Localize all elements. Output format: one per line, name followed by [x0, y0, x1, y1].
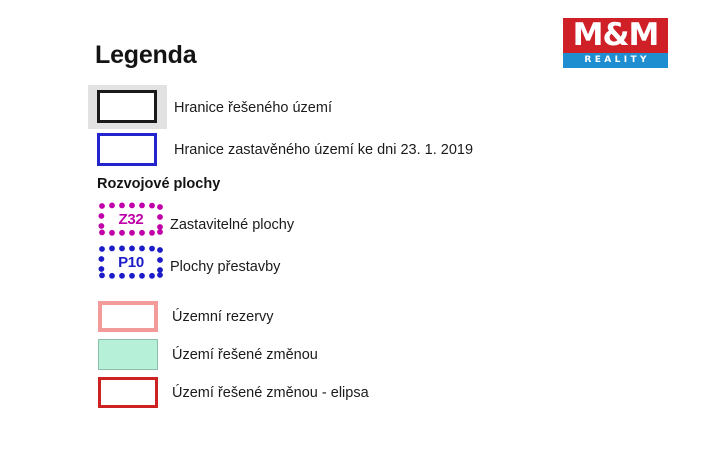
legend-page: { "logo": { "mark": "M&M", "tagline": "R… — [0, 0, 719, 468]
swatch-uzemi-resene-zmenou-elipsa — [98, 377, 158, 408]
swatch-code-p10: P10 — [98, 245, 164, 279]
swatch-hranice-zastaveneho-uzemi — [97, 133, 157, 166]
swatch-plochy-prestavby: P10 — [98, 245, 164, 279]
swatch-code-z32: Z32 — [98, 202, 164, 236]
page-title: Legenda — [95, 41, 196, 70]
logo-wordmark: M&M — [563, 18, 668, 53]
legend-label-hranice-reseneho-uzemi: Hranice řešeného území — [174, 100, 332, 116]
legend-label-zastavitelne-plochy: Zastavitelné plochy — [170, 217, 294, 233]
legend-label-uzemi-resene-zmenou: Území řešené změnou — [172, 347, 318, 363]
legend-label-uzemni-rezervy: Územní rezervy — [172, 309, 274, 325]
section-heading-rozvojove-plochy: Rozvojové plochy — [97, 176, 220, 192]
swatch-hranice-reseneho-uzemi — [97, 90, 157, 123]
logo-tagline: REALITY — [563, 53, 668, 68]
swatch-uzemni-rezervy — [98, 301, 158, 332]
legend-label-uzemi-resene-zmenou-elipsa: Území řešené změnou - elipsa — [172, 385, 369, 401]
legend-label-plochy-prestavby: Plochy přestavby — [170, 259, 280, 275]
mm-reality-logo: M&M REALITY — [563, 18, 668, 68]
legend-label-hranice-zastaveneho-uzemi: Hranice zastavěného území ke dni 23. 1. … — [174, 142, 473, 158]
swatch-uzemi-resene-zmenou — [98, 339, 158, 370]
swatch-zastavitelne-plochy: Z32 — [98, 202, 164, 236]
